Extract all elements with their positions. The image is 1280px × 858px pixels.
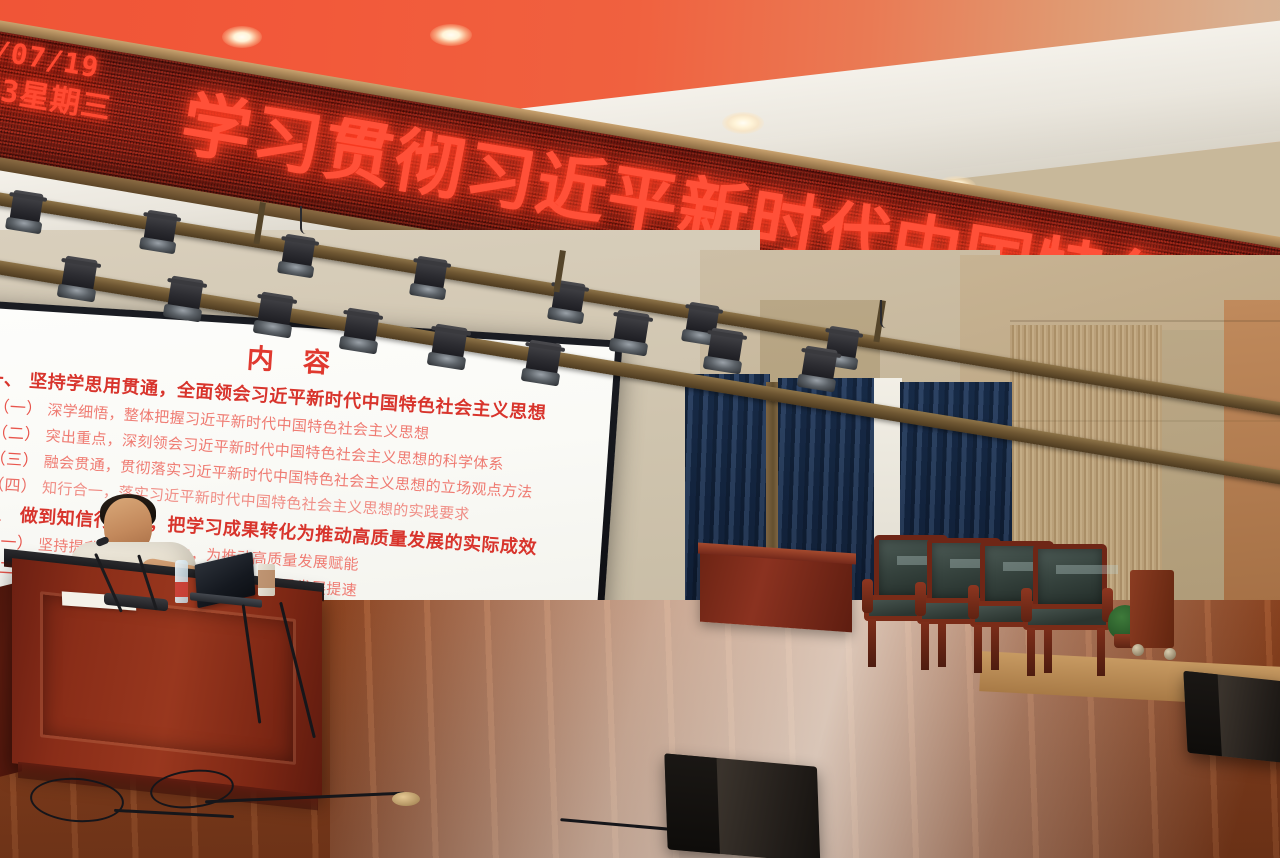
- stage-spotlight: [256, 291, 294, 337]
- stage-spotlight: [342, 307, 380, 353]
- lighting-cable-bundle: [880, 300, 904, 328]
- stage-spotlight: [800, 345, 838, 391]
- floor-power-outlet: [392, 792, 420, 806]
- chair-arm-left: [968, 585, 979, 619]
- chair-leg-left: [974, 625, 982, 673]
- bottle-label: [175, 582, 188, 597]
- chair-leg-right: [1097, 628, 1105, 676]
- stage-spotlight: [60, 255, 98, 301]
- chair-back-highlight: [1056, 565, 1118, 574]
- chair-leg-left: [1027, 628, 1035, 676]
- stage-monitor-speaker: [664, 753, 820, 858]
- chair-back: [1033, 544, 1107, 610]
- rolling-cart[interactable]: [1130, 570, 1174, 648]
- podium-front-panel: [40, 591, 296, 765]
- stage-spotlight: [412, 256, 448, 300]
- cart-caster: [1164, 648, 1176, 660]
- stage-spotlight: [612, 309, 650, 355]
- stage-chair[interactable]: [1021, 544, 1113, 676]
- stage-spotlight: [430, 323, 468, 369]
- slide-bullet-lead: （四）: [0, 474, 38, 496]
- speaker-grille: [664, 753, 719, 853]
- chair-leg-left: [868, 619, 876, 667]
- tea-cup: [258, 564, 275, 596]
- stage-spotlight: [706, 327, 744, 373]
- wall-seam: [1010, 320, 1280, 322]
- cup-band: [258, 570, 275, 588]
- stage-spotlight: [8, 190, 44, 234]
- stage-monitor-speaker: [1183, 671, 1280, 763]
- stage-spotlight: [166, 275, 204, 321]
- slide-bullet-lead: （三）: [0, 448, 40, 470]
- chair-leg-left: [921, 622, 929, 670]
- cart-caster: [1132, 644, 1144, 656]
- auditorium-scene: 3/07/19 :53星期三 学习贯彻习近平新时代中国特色社会主义思想主题教育专…: [0, 0, 1280, 858]
- chair-arm-left: [862, 579, 873, 613]
- chair-seat: [1023, 604, 1111, 630]
- speaker-podium: [12, 558, 322, 797]
- stage-spotlight: [280, 234, 316, 278]
- slide-bullet-lead: （二）: [0, 422, 41, 444]
- chair-arm-left: [915, 582, 926, 616]
- chair-arm-left: [1021, 588, 1032, 622]
- water-bottle: [175, 560, 188, 603]
- stage-spotlight: [524, 339, 562, 385]
- speaker-grille: [1183, 671, 1222, 756]
- lighting-cable-bundle: [300, 206, 324, 234]
- slide-bullet-lead: （一）: [0, 396, 43, 418]
- stage-spotlight: [142, 210, 178, 254]
